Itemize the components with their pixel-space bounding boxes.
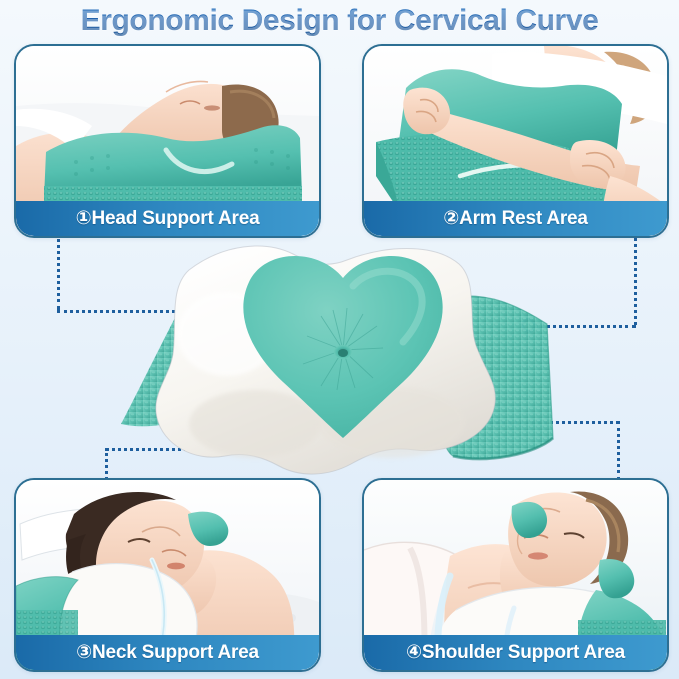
connector-shoulder-vertical [617, 421, 620, 480]
panel-label-shoulder-support: ④Shoulder Support Area [364, 635, 667, 670]
panel-label-text-arm: ②Arm Rest Area [443, 207, 588, 230]
panel-label-head-support: ①Head Support Area [16, 201, 319, 236]
panel-label-neck-support: ③Neck Support Area [16, 635, 319, 670]
panel-head-support[interactable]: ①Head Support Area [14, 44, 321, 238]
panel-shoulder-support[interactable]: ④Shoulder Support Area [362, 478, 669, 672]
connector-head-vertical [57, 232, 60, 310]
panel-neck-support[interactable]: ③Neck Support Area [14, 478, 321, 672]
panel-arm-rest[interactable]: ②Arm Rest Area [362, 44, 669, 238]
connector-arm-vertical [634, 232, 637, 325]
page-title: Ergonomic Design for Cervical Curve [0, 4, 679, 38]
connector-neck-vertical [105, 448, 108, 480]
panel-label-text-neck: ③Neck Support Area [76, 641, 259, 664]
panel-label-text-head: ①Head Support Area [76, 207, 260, 230]
panel-label-arm-rest: ②Arm Rest Area [364, 201, 667, 236]
infographic-stage: Ergonomic Design for Cervical Curve [0, 0, 679, 679]
panel-label-text-shoulder: ④Shoulder Support Area [406, 641, 625, 664]
center-product-image [115, 238, 565, 488]
